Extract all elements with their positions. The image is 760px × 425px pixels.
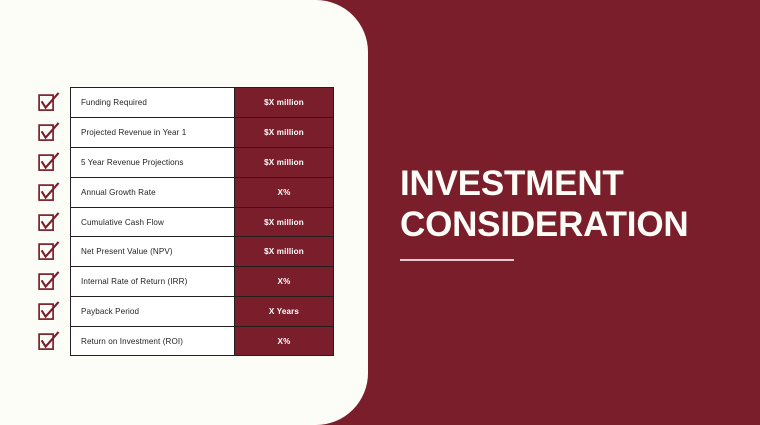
page-title-line-2: CONSIDERATION [400,204,730,245]
metric-value: $X million [234,88,333,117]
metric-label: Payback Period [71,297,234,326]
page-title-line-1: INVESTMENT [400,163,730,204]
metric-value: X% [234,267,333,296]
row-body: Internal Rate of Return (IRR) X% [70,266,334,296]
title-underline-rule [400,259,514,261]
table-row[interactable]: Payback Period X Years [36,296,334,326]
table-row[interactable]: 5 Year Revenue Projections $X million [36,147,334,177]
slide-canvas: Funding Required $X million Projected Re… [0,0,760,425]
row-body: Return on Investment (ROI) X% [70,326,334,356]
checked-checkbox-icon[interactable] [38,271,60,291]
row-checkbox-cell[interactable] [36,207,70,237]
row-body: Projected Revenue in Year 1 $X million [70,117,334,147]
checked-checkbox-icon[interactable] [38,92,60,112]
row-checkbox-cell[interactable] [36,296,70,326]
metric-value: $X million [234,148,333,177]
metric-value: $X million [234,237,333,266]
slide-title-block: INVESTMENT CONSIDERATION [400,163,730,261]
metric-label: Net Present Value (NPV) [71,237,234,266]
metric-label: Funding Required [71,88,234,117]
table-row[interactable]: Return on Investment (ROI) X% [36,326,334,356]
row-body: 5 Year Revenue Projections $X million [70,147,334,177]
row-checkbox-cell[interactable] [36,266,70,296]
metric-label: 5 Year Revenue Projections [71,148,234,177]
row-body: Annual Growth Rate X% [70,177,334,207]
table-row[interactable]: Projected Revenue in Year 1 $X million [36,117,334,147]
checked-checkbox-icon[interactable] [38,122,60,142]
table-row[interactable]: Net Present Value (NPV) $X million [36,236,334,266]
metric-value: X Years [234,297,333,326]
row-checkbox-cell[interactable] [36,326,70,356]
table-row[interactable]: Internal Rate of Return (IRR) X% [36,266,334,296]
table-row[interactable]: Annual Growth Rate X% [36,177,334,207]
checked-checkbox-icon[interactable] [38,301,60,321]
metric-label: Projected Revenue in Year 1 [71,118,234,147]
metric-label: Return on Investment (ROI) [71,327,234,355]
metric-value: $X million [234,118,333,147]
checked-checkbox-icon[interactable] [38,212,60,232]
row-body: Cumulative Cash Flow $X million [70,207,334,237]
row-body: Net Present Value (NPV) $X million [70,236,334,266]
row-checkbox-cell[interactable] [36,147,70,177]
checked-checkbox-icon[interactable] [38,152,60,172]
metric-value: $X million [234,208,333,237]
investment-metrics-table: Funding Required $X million Projected Re… [36,87,334,356]
metric-value: X% [234,327,333,355]
row-body: Funding Required $X million [70,87,334,117]
row-body: Payback Period X Years [70,296,334,326]
checked-checkbox-icon[interactable] [38,182,60,202]
metric-label: Internal Rate of Return (IRR) [71,267,234,296]
metric-label: Cumulative Cash Flow [71,208,234,237]
row-checkbox-cell[interactable] [36,87,70,117]
metric-label: Annual Growth Rate [71,178,234,207]
checked-checkbox-icon[interactable] [38,241,60,261]
row-checkbox-cell[interactable] [36,117,70,147]
table-row[interactable]: Funding Required $X million [36,87,334,117]
row-checkbox-cell[interactable] [36,236,70,266]
checked-checkbox-icon[interactable] [38,331,60,351]
table-row[interactable]: Cumulative Cash Flow $X million [36,207,334,237]
metric-value: X% [234,178,333,207]
row-checkbox-cell[interactable] [36,177,70,207]
